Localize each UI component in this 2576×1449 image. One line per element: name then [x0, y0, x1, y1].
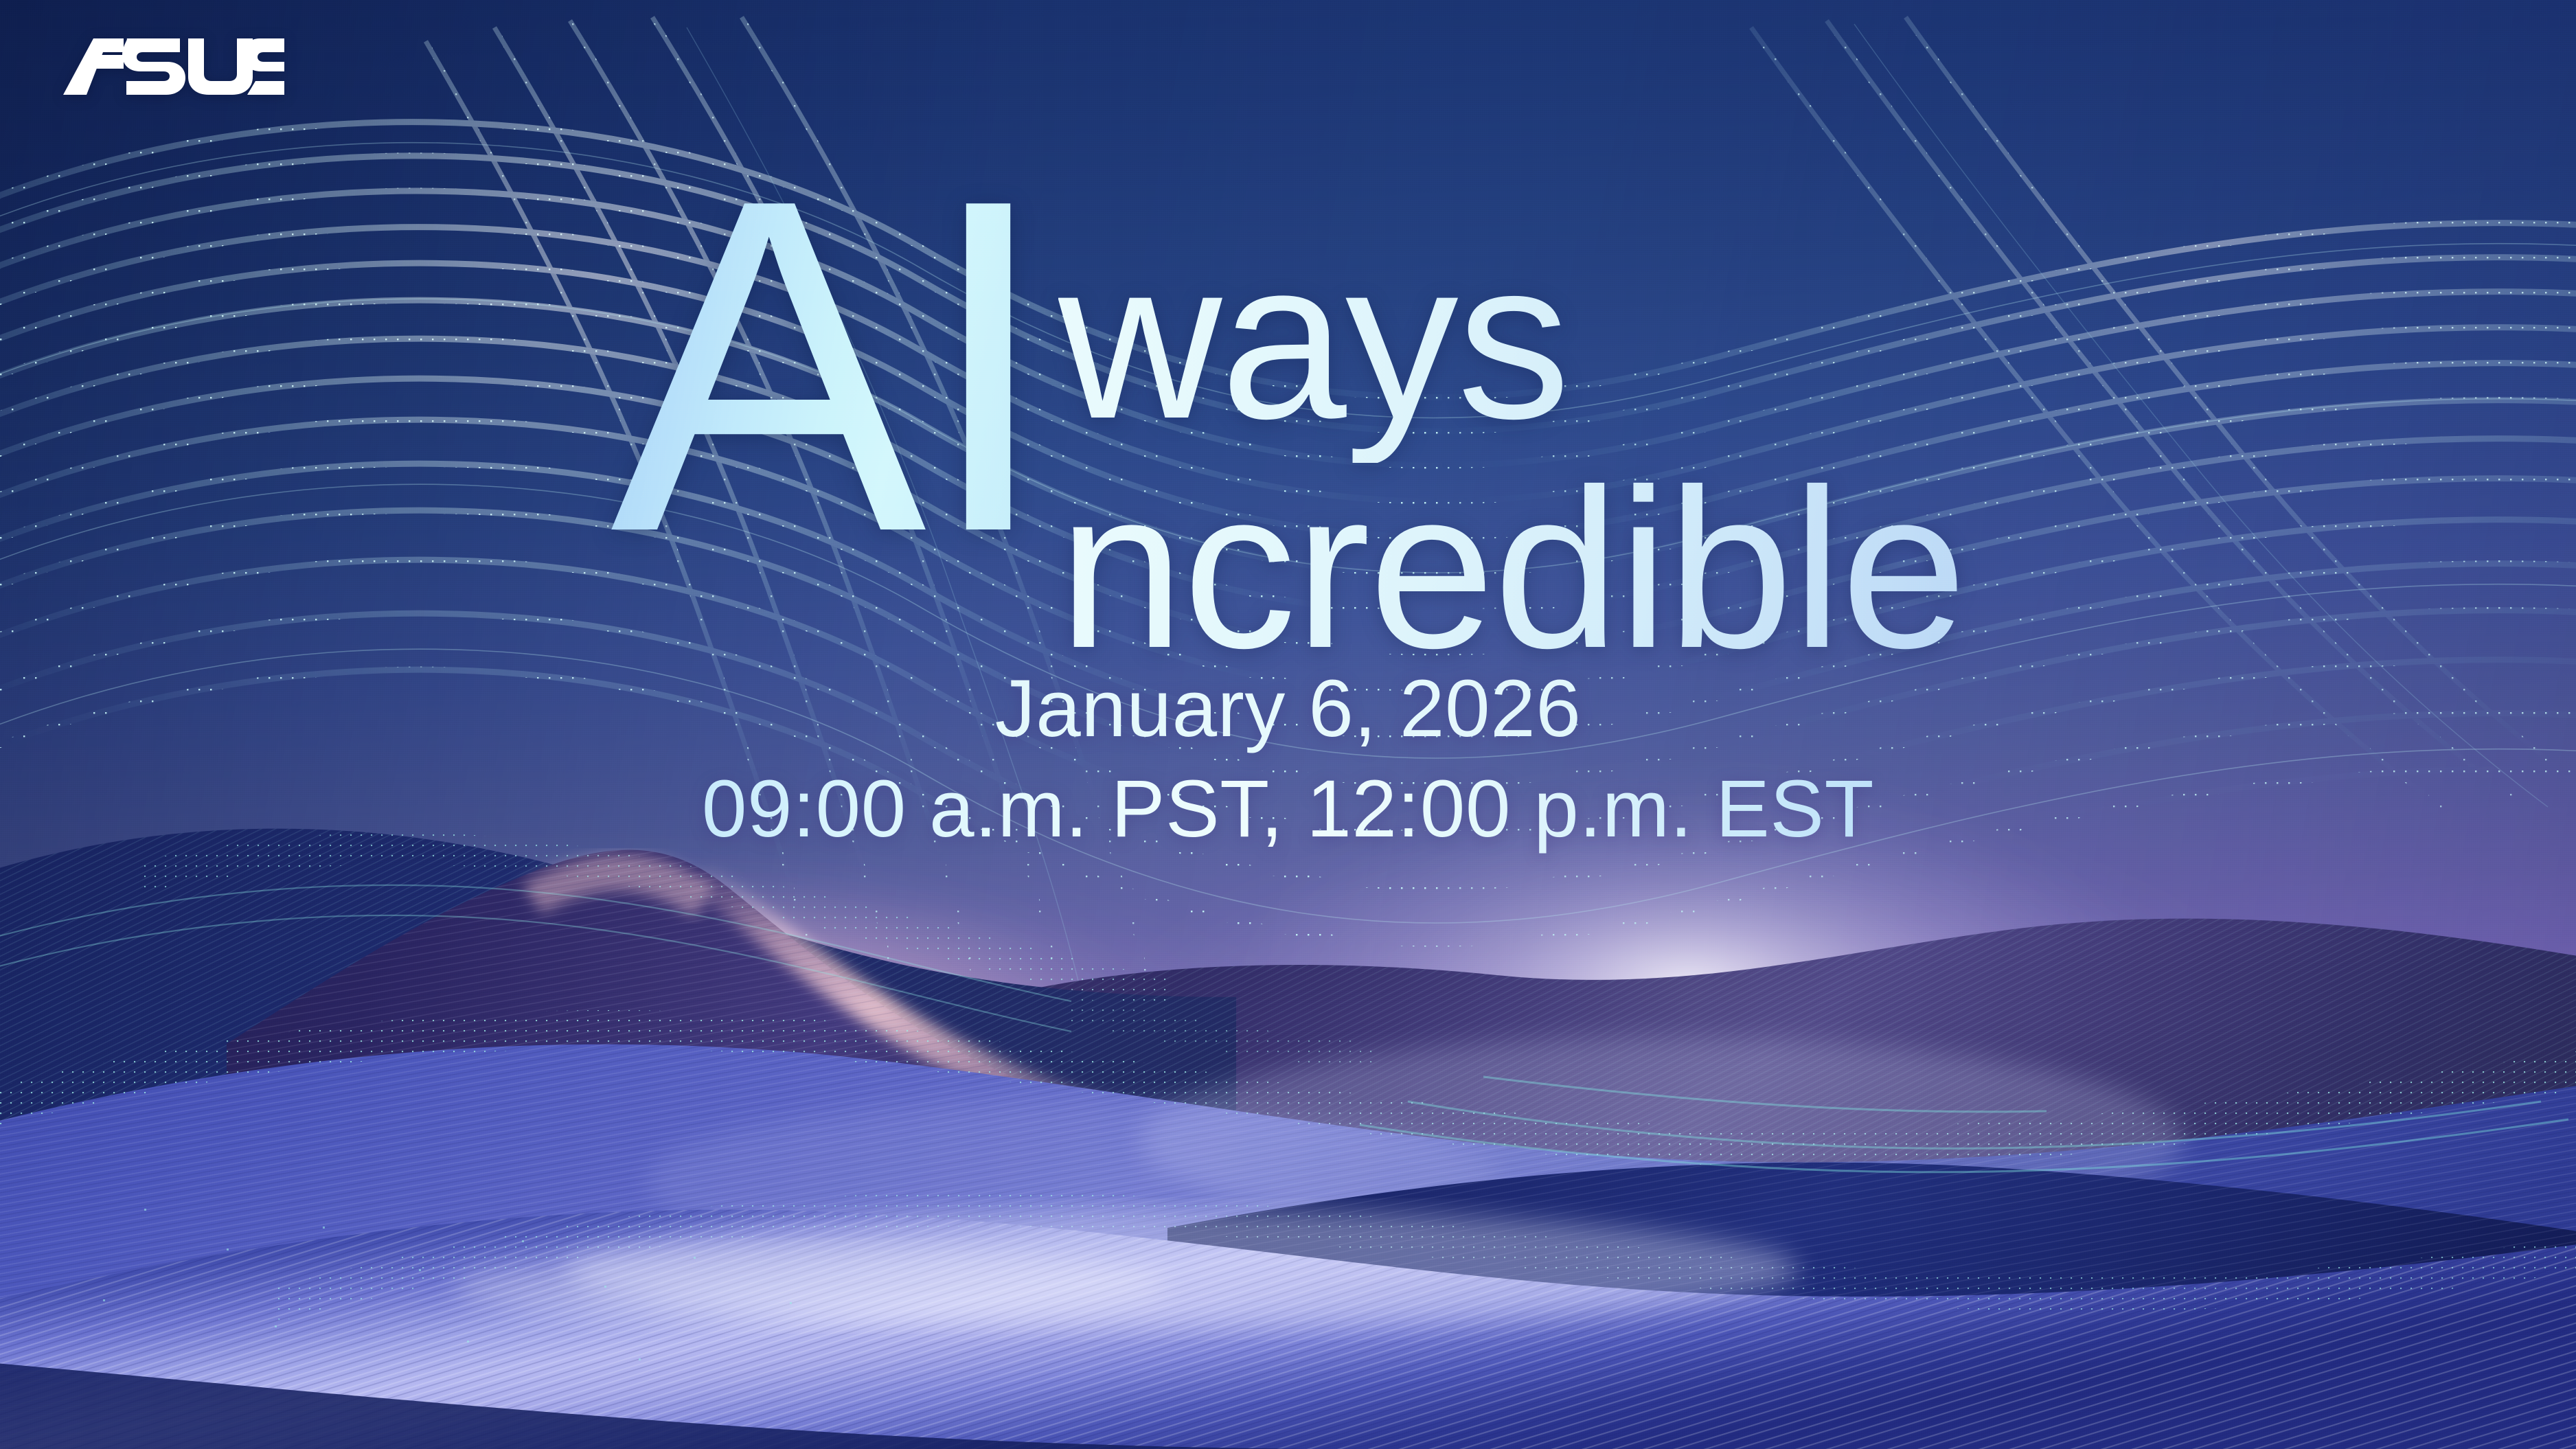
- promo-banner: AI ways ncredible January 6, 2026 09:00 …: [0, 0, 2576, 1449]
- film-grain: [0, 0, 2576, 1449]
